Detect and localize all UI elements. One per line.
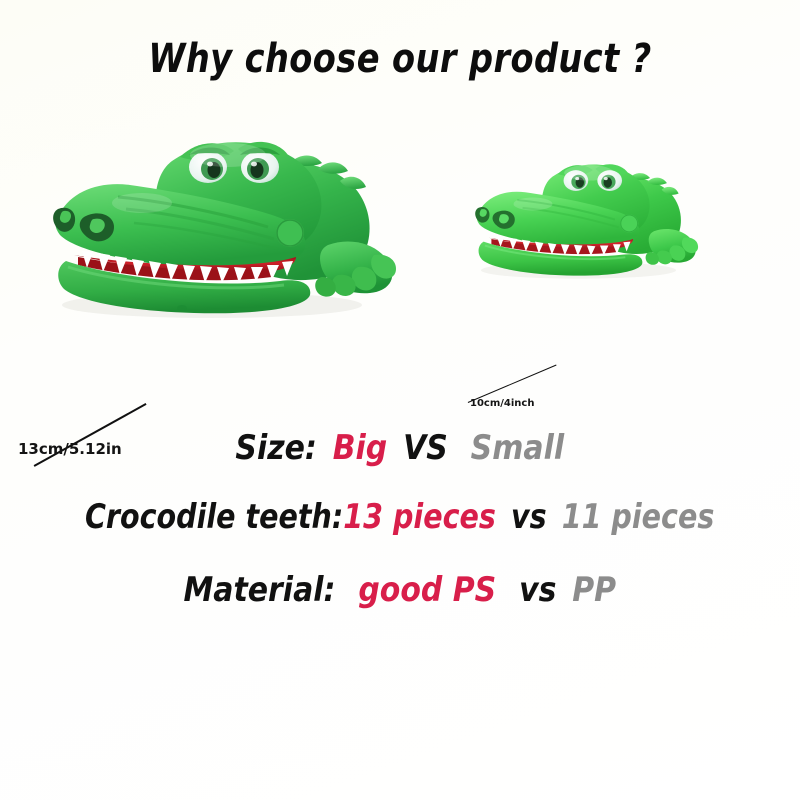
teeth-label: Crocodile teeth: xyxy=(85,497,343,537)
material-vs: vs xyxy=(519,570,556,610)
rear-foot xyxy=(646,229,699,265)
product-photo-area: 13cm/5.12in 10cm/4inch xyxy=(0,100,800,400)
small-crocodile-illustration xyxy=(455,135,715,295)
size-ours: Big xyxy=(333,428,387,468)
teeth-theirs: 11 pieces xyxy=(562,497,715,537)
material-theirs: PP xyxy=(572,570,616,610)
rear-foot xyxy=(315,242,396,297)
small-crocodile-toy xyxy=(455,135,715,295)
size-theirs: Small xyxy=(471,428,564,468)
size-label: Size: xyxy=(236,428,317,468)
material-ours: good PS xyxy=(359,570,497,610)
comparison-row-material: Material:good PSvsPP xyxy=(0,570,800,610)
comparison-row-teeth: Crocodile teeth:13 piecesvs11 pieces xyxy=(0,497,800,537)
small-dimension-label: 10cm/4inch xyxy=(470,398,534,409)
big-crocodile-toy xyxy=(22,105,422,335)
size-vs: VS xyxy=(403,428,448,468)
teeth-vs: vs xyxy=(511,497,547,537)
big-crocodile-illustration xyxy=(22,105,422,335)
product-comparison-page: Why choose our product ? xyxy=(0,0,800,800)
material-label: Material: xyxy=(184,570,336,610)
page-title: Why choose our product ? xyxy=(64,36,736,82)
teeth-ours: 13 pieces xyxy=(344,497,497,537)
comparison-row-size: Size:BigVSSmall xyxy=(0,428,800,468)
